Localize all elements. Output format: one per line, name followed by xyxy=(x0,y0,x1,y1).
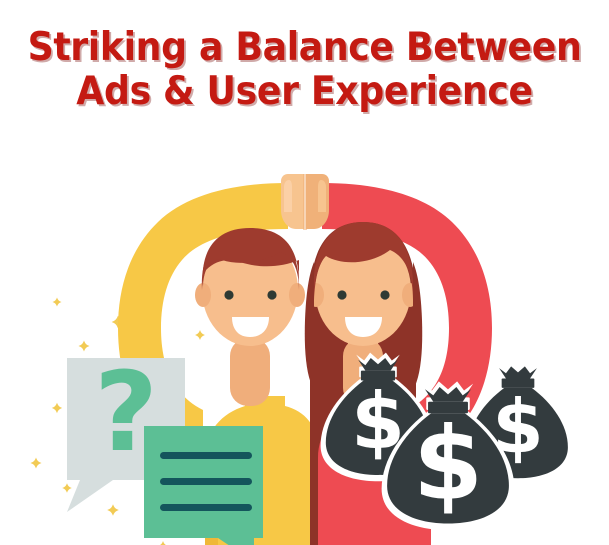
left-hand-thumb xyxy=(284,180,292,212)
message-bubble-body xyxy=(144,426,263,545)
message-line-3 xyxy=(160,504,252,511)
money-bag-center-symbol: $ xyxy=(413,404,483,522)
woman-hair-side-left xyxy=(305,262,314,390)
man-eye-right xyxy=(267,290,276,299)
illustration: ? $ $ xyxy=(0,150,609,545)
man-ear-right xyxy=(289,283,305,307)
woman-hair-side-right xyxy=(413,262,422,390)
poster-canvas: Striking a Balance Between Ads & User Ex… xyxy=(0,0,609,545)
message-line-1 xyxy=(160,452,252,459)
page-title-line-1: Striking a Balance Between xyxy=(21,26,587,70)
page-title: Striking a Balance Between Ads & User Ex… xyxy=(0,26,609,114)
woman-eye-left xyxy=(337,290,346,299)
man-ear-left xyxy=(195,283,211,307)
right-hand-thumb xyxy=(318,180,326,212)
clasped-hands xyxy=(281,174,329,230)
page-title-line-2: Ads & User Experience xyxy=(21,70,587,114)
woman-eye-right xyxy=(380,290,389,299)
man-neck xyxy=(230,338,270,406)
man-eye-left xyxy=(224,290,233,299)
message-speech-bubble xyxy=(144,426,263,545)
message-line-2 xyxy=(160,478,252,485)
hands-gap xyxy=(303,174,307,230)
